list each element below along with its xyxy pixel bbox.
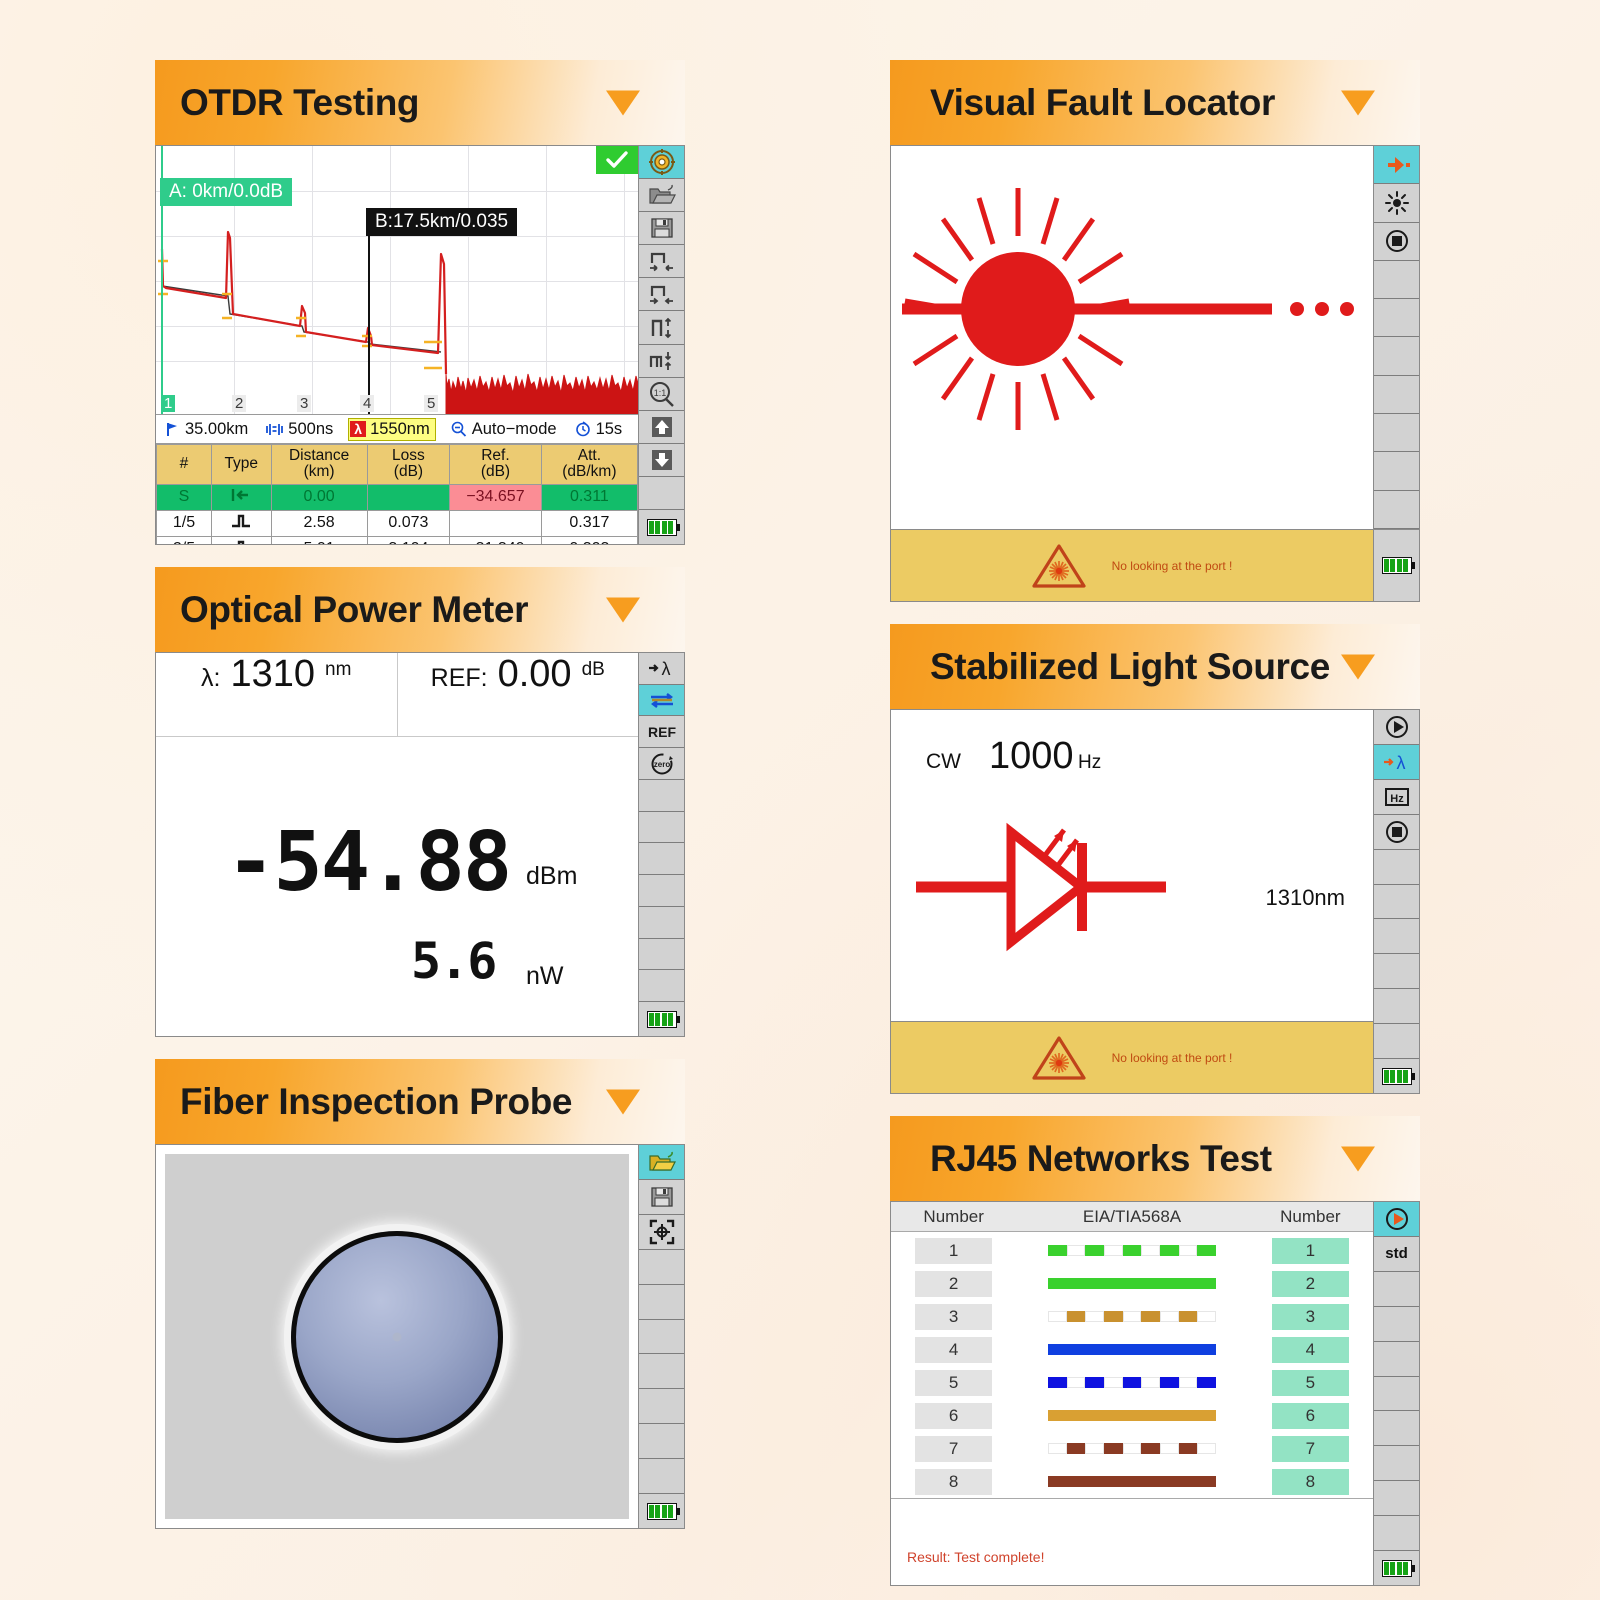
- status-wavelength[interactable]: λ 1550nm: [342, 418, 441, 441]
- toolbar-blank-slot: [639, 1424, 684, 1459]
- opm-settings-row: λ: 1310 nm REF: 0.00 dB: [156, 653, 638, 737]
- x-tick: 1: [161, 395, 175, 412]
- rj45-display[interactable]: Number EIA/TIA568A Number 11223344556677…: [891, 1202, 1373, 1585]
- opm-wavelength-unit: nm: [325, 659, 351, 681]
- rj45-pin-left: 5: [891, 1370, 1016, 1396]
- battery-indicator: [639, 1494, 684, 1528]
- toolbar-laser-beam-icon[interactable]: [1374, 146, 1419, 184]
- toolbar-blank-slot: [639, 843, 684, 875]
- status-pulse[interactable]: 500ns: [257, 420, 342, 439]
- cell-loss: [367, 484, 449, 510]
- rj45-wire-graphic: [1016, 1245, 1247, 1256]
- otdr-trace-graph[interactable]: A: 0km/0.0dB B:17.5km/0.035 1 2 3 4 5: [156, 146, 638, 414]
- sls-settings[interactable]: CW 1000 Hz: [926, 735, 1101, 778]
- battery-indicator: [1374, 1551, 1419, 1585]
- cell-ref: −31.349: [450, 536, 542, 544]
- rj45-wire-graphic: [1016, 1410, 1247, 1421]
- battery-indicator: [639, 1002, 684, 1036]
- otdr-header: OTDR Testing: [155, 60, 685, 145]
- rj45-pin-left: 7: [891, 1436, 1016, 1462]
- toolbar-blank-slot: [1374, 299, 1419, 337]
- sls-toolbar: λHz: [1373, 710, 1419, 1093]
- rj45-header: RJ45 Networks Test: [890, 1116, 1420, 1201]
- cell-type-icon: [211, 536, 271, 544]
- rj45-pin-left: 6: [891, 1403, 1016, 1429]
- rj45-header-right: Number: [1248, 1207, 1373, 1227]
- toolbar-play-icon[interactable]: [1374, 1202, 1419, 1237]
- cell-ref: −34.657: [450, 484, 542, 510]
- fip-title: Fiber Inspection Probe: [180, 1081, 572, 1123]
- rj45-screen: Number EIA/TIA568A Number 11223344556677…: [890, 1201, 1420, 1586]
- otdr-title: OTDR Testing: [180, 82, 419, 124]
- toolbar-blank-slot: [639, 1389, 684, 1424]
- sls-graphic-area: CW 1000 Hz: [891, 710, 1373, 1021]
- rj45-wire-row: 44: [891, 1333, 1373, 1366]
- rj45-pin-right: 8: [1248, 1469, 1373, 1495]
- toolbar-target-icon[interactable]: [639, 146, 684, 179]
- led-diode-icon: [916, 810, 1246, 960]
- panel-fip: Fiber Inspection Probe: [155, 1059, 685, 1529]
- right-column: Visual Fault Locator: [890, 60, 1420, 1586]
- status-time[interactable]: 15s: [566, 420, 632, 439]
- rj45-pin-left: 3: [891, 1304, 1016, 1330]
- vfl-screen: [890, 145, 1420, 530]
- toolbar-blank-slot: [639, 477, 684, 510]
- toolbar-blank-slot: [1374, 452, 1419, 490]
- vfl-warning-text: No looking at the port !: [1112, 559, 1233, 573]
- cell-att: 0.317: [541, 510, 637, 536]
- fiber-core-dot: [393, 1332, 402, 1341]
- cell-att: 0.311: [541, 484, 637, 510]
- rj45-header-left: Number: [891, 1207, 1016, 1227]
- vfl-title: Visual Fault Locator: [930, 82, 1275, 124]
- table-row[interactable]: 1/52.580.0730.317: [157, 510, 638, 536]
- laser-warning-icon: [1032, 1035, 1086, 1081]
- cell-distance: 2.58: [271, 510, 367, 536]
- sls-warning-bar: No looking at the port !: [891, 1021, 1373, 1093]
- cell-type-icon: [211, 510, 271, 536]
- chevron-down-icon[interactable]: [1341, 654, 1375, 679]
- lambda-icon: λ: [350, 421, 366, 437]
- opm-ref-label: REF:: [431, 664, 488, 693]
- opm-wavelength-label: λ:: [201, 664, 220, 693]
- otdr-screen: A: 0km/0.0dB B:17.5km/0.035 1 2 3 4 5: [155, 145, 685, 545]
- toolbar-blank-slot: [639, 970, 684, 1002]
- opm-power-nw: 5.6: [411, 932, 495, 990]
- opm-wavelength-field[interactable]: λ: 1310 nm: [156, 653, 398, 736]
- rj45-wire-graphic: [1016, 1311, 1247, 1322]
- rj45-pin-right: 7: [1248, 1436, 1373, 1462]
- toolbar-blank-slot: [639, 1285, 684, 1320]
- toolbar-blank-slot: [639, 875, 684, 907]
- flag-icon: [165, 422, 180, 437]
- cell-distance: 5.01: [271, 536, 367, 544]
- toolbar-blank-slot: [1374, 1411, 1419, 1446]
- fip-display[interactable]: [156, 1145, 638, 1528]
- opm-power-dbm: -54.88: [226, 815, 510, 910]
- table-header-row: # Type Distance(km) Loss(dB) Ref.(dB) At…: [157, 445, 638, 485]
- panel-rj45: RJ45 Networks Test Number EIA/TIA568A Nu…: [890, 1116, 1420, 1586]
- opm-wavelength-value: 1310: [231, 653, 316, 696]
- svg-text:Hz: Hz: [1390, 793, 1404, 805]
- otdr-status-bar: 35.00km 500ns λ 1550nm: [156, 414, 638, 444]
- rj45-pin-right: 5: [1248, 1370, 1373, 1396]
- toolbar-stop-icon[interactable]: [1374, 223, 1419, 261]
- toolbar-set-wavelength-icon[interactable]: λ: [639, 653, 684, 685]
- chevron-down-icon[interactable]: [606, 597, 640, 622]
- rj45-pin-left: 4: [891, 1337, 1016, 1363]
- mode-label: std: [1385, 1245, 1408, 1262]
- fip-image-area: [156, 1145, 638, 1528]
- svg-text:λ: λ: [661, 659, 670, 679]
- toolbar-blank-slot: [1374, 414, 1419, 452]
- rj45-pin-right: 3: [1248, 1304, 1373, 1330]
- toolbar-blink-mode-icon[interactable]: [1374, 184, 1419, 222]
- toolbar-blank-slot: [1374, 919, 1419, 954]
- rj45-wire-graphic: [1016, 1278, 1247, 1289]
- toolbar-focus-center-icon[interactable]: [639, 1215, 684, 1250]
- rj45-wiremap: Number EIA/TIA568A Number 11223344556677…: [891, 1202, 1373, 1585]
- vfl-graphic-area: [891, 146, 1373, 529]
- sls-screen: CW 1000 Hz: [890, 709, 1420, 1094]
- sls-display[interactable]: CW 1000 Hz: [891, 710, 1373, 1093]
- sls-mode-label: CW: [926, 750, 961, 774]
- toolbar-blank-slot: [1374, 1377, 1419, 1412]
- rj45-result-area: Result: Test complete!: [891, 1498, 1373, 1585]
- rj45-wire-graphic: [1016, 1377, 1247, 1388]
- toolbar-open-folder-icon[interactable]: [639, 179, 684, 212]
- otdr-toolbar: 1:1: [638, 146, 684, 544]
- cell-loss: 0.073: [367, 510, 449, 536]
- status-mode[interactable]: Auto−mode: [442, 420, 566, 439]
- sls-frequency-unit: Hz: [1078, 752, 1101, 773]
- th-ref: Ref.(dB): [450, 445, 542, 485]
- toolbar-open-folder-icon[interactable]: [639, 1145, 684, 1180]
- rj45-pin-right: 6: [1248, 1403, 1373, 1429]
- panel-otdr: OTDR Testing: [155, 60, 685, 545]
- th-loss: Loss(dB): [367, 445, 449, 485]
- rj45-wire-graphic: [1016, 1443, 1247, 1454]
- toolbar-blank-slot: [1374, 1446, 1419, 1481]
- toolbar-blank-slot: [639, 1250, 684, 1285]
- rj45-wire-graphic: [1016, 1344, 1247, 1355]
- svg-text:λ: λ: [1396, 753, 1405, 773]
- rj45-pin-left: 8: [891, 1469, 1016, 1495]
- rj45-result-text: Result: Test complete!: [907, 1549, 1044, 1565]
- opm-power-nw-unit: nW: [526, 962, 564, 991]
- toolbar-blank-slot: [639, 1320, 684, 1355]
- toolbar-pulse-vertical-expand-icon[interactable]: [639, 311, 684, 344]
- toolbar-blank-slot: [639, 1459, 684, 1494]
- cell-att: 0.303: [541, 536, 637, 544]
- toolbar-blank-slot: [1374, 954, 1419, 989]
- toolbar-save-disk-icon[interactable]: [639, 212, 684, 245]
- rj45-toolbar: std: [1373, 1202, 1419, 1585]
- svg-text:REF: REF: [648, 724, 676, 740]
- opm-title: Optical Power Meter: [180, 589, 528, 631]
- toolbar-blank-slot: [1374, 1024, 1419, 1059]
- sls-title: Stabilized Light Source: [930, 646, 1330, 688]
- vfl-warning-bar: No looking at the port !: [890, 530, 1374, 602]
- vfl-header: Visual Fault Locator: [890, 60, 1420, 145]
- opm-header: Optical Power Meter: [155, 567, 685, 652]
- panel-opm: Optical Power Meter λ: 1310 nm REF: 0.00: [155, 567, 685, 1037]
- check-icon: [596, 146, 638, 174]
- toolbar-blank-slot: [1374, 376, 1419, 414]
- th-distance: Distance(km): [271, 445, 367, 485]
- toolbar-blank-slot: [1374, 261, 1419, 299]
- fiber-endface-image[interactable]: [165, 1154, 629, 1519]
- marker-a-label: A: 0km/0.0dB: [160, 178, 292, 206]
- rj45-wire-row: 88: [891, 1465, 1373, 1498]
- toolbar-pulse-expand-icon[interactable]: [639, 245, 684, 278]
- svg-text:1:1: 1:1: [653, 388, 666, 398]
- toolbar-blank-slot: [1374, 1307, 1419, 1342]
- cell-type-icon: [211, 484, 271, 510]
- toolbar-blank-slot: [1374, 491, 1419, 529]
- toolbar-stop-icon[interactable]: [1374, 815, 1419, 850]
- battery-indicator: [1374, 1059, 1419, 1093]
- toolbar-reference-icon[interactable]: REF: [639, 716, 684, 748]
- toolbar-blank-slot: [1374, 1342, 1419, 1377]
- otdr-table-body: S0.00−34.6570.3111/52.580.0730.3172/55.0…: [157, 484, 638, 544]
- opm-toolbar: λREFzero: [638, 653, 684, 1036]
- th-att: Att.(dB/km): [541, 445, 637, 485]
- vfl-display[interactable]: [891, 146, 1373, 529]
- toolbar-play-icon[interactable]: [1374, 710, 1419, 745]
- cell-index: 1/5: [157, 510, 212, 536]
- cell-ref: [450, 510, 542, 536]
- toolbar-blank-slot: [639, 812, 684, 844]
- rj45-wire-row: 11: [891, 1234, 1373, 1267]
- opm-screen: λ: 1310 nm REF: 0.00 dB -54.88 dBm: [155, 652, 685, 1037]
- battery-indicator: [639, 510, 684, 544]
- opm-ref-field[interactable]: REF: 0.00 dB: [398, 653, 639, 736]
- zoom-out-icon: [451, 421, 467, 437]
- x-tick: 4: [360, 395, 374, 412]
- opm-readout: -54.88 dBm 5.6 nW: [156, 737, 638, 1036]
- laser-burst-icon: [891, 146, 1373, 446]
- otdr-x-axis: 1 2 3 4 5: [156, 392, 638, 414]
- toolbar-zoom-one-to-one-icon[interactable]: 1:1: [639, 378, 684, 411]
- rj45-wire-row: 22: [891, 1267, 1373, 1300]
- toolbar-frequency-hz-icon[interactable]: Hz: [1374, 780, 1419, 815]
- toolbar-blank-slot: [1374, 989, 1419, 1024]
- cursor-b[interactable]: [368, 212, 370, 414]
- vfl-warning-row: No looking at the port !: [890, 530, 1420, 602]
- th-type: Type: [211, 445, 271, 485]
- sls-header: Stabilized Light Source: [890, 624, 1420, 709]
- rj45-wire-row: 66: [891, 1399, 1373, 1432]
- rj45-table-header: Number EIA/TIA568A Number: [891, 1202, 1373, 1232]
- rj45-rows: 1122334455667788: [891, 1232, 1373, 1498]
- table-row[interactable]: S0.00−34.6570.311: [157, 484, 638, 510]
- sls-warning-text: No looking at the port !: [1112, 1051, 1233, 1065]
- toolbar-arrow-up-icon[interactable]: [639, 411, 684, 444]
- toolbar-blank-slot: [1374, 337, 1419, 375]
- th-index: #: [157, 445, 212, 485]
- toolbar-set-wavelength-icon[interactable]: λ: [1374, 745, 1419, 780]
- rj45-pin-right: 2: [1248, 1271, 1373, 1297]
- toolbar-blank-slot: [639, 939, 684, 971]
- toolbar-blank-slot: [639, 907, 684, 939]
- fip-screen: [155, 1144, 685, 1529]
- toolbar-blank-slot: [639, 1354, 684, 1389]
- clock-icon: [575, 421, 591, 437]
- sls-wavelength: 1310nm: [1265, 885, 1345, 911]
- vfl-battery: [1374, 530, 1420, 602]
- fip-header: Fiber Inspection Probe: [155, 1059, 685, 1144]
- rj45-wire-row: 55: [891, 1366, 1373, 1399]
- cell-index: 2/5: [157, 536, 212, 544]
- app-root: OTDR Testing: [0, 0, 1600, 1600]
- toolbar-switch-units-icon[interactable]: [639, 685, 684, 717]
- rj45-wire-row: 77: [891, 1432, 1373, 1465]
- toolbar-blank-slot: [1374, 1272, 1419, 1307]
- x-tick: 3: [297, 395, 311, 412]
- cell-index: S: [157, 484, 212, 510]
- opm-power-dbm-unit: dBm: [526, 862, 577, 891]
- rj45-pin-left: 2: [891, 1271, 1016, 1297]
- x-tick: 5: [424, 395, 438, 412]
- rj45-title: RJ45 Networks Test: [930, 1138, 1272, 1180]
- toolbar-arrow-down-icon[interactable]: [639, 444, 684, 477]
- toolbar-pulse-vertical-contract-icon[interactable]: [639, 345, 684, 378]
- chevron-down-icon[interactable]: [1341, 90, 1375, 115]
- opm-display[interactable]: λ: 1310 nm REF: 0.00 dB -54.88 dBm: [156, 653, 638, 1036]
- svg-text:zero: zero: [653, 760, 670, 769]
- rj45-pin-left: 1: [891, 1238, 1016, 1264]
- laser-warning-icon: [1032, 543, 1086, 589]
- rj45-wire-row: 33: [891, 1300, 1373, 1333]
- left-column: OTDR Testing: [155, 60, 685, 1529]
- cell-distance: 0.00: [271, 484, 367, 510]
- toolbar-blank-slot: [1374, 1481, 1419, 1516]
- status-range[interactable]: 35.00km: [156, 420, 257, 439]
- rj45-pin-right: 4: [1248, 1337, 1373, 1363]
- vfl-toolbar: [1373, 146, 1419, 529]
- chevron-down-icon[interactable]: [606, 1089, 640, 1114]
- pulse-width-icon: [266, 422, 283, 437]
- toolbar-blank-slot: [1374, 885, 1419, 920]
- rj45-pin-right: 1: [1248, 1238, 1373, 1264]
- fip-toolbar: [638, 1145, 684, 1528]
- toolbar-blank-slot: [639, 780, 684, 812]
- opm-ref-unit: dB: [582, 659, 605, 681]
- table-row[interactable]: 2/55.013.104−31.3490.303: [157, 536, 638, 544]
- rj45-header-center: EIA/TIA568A: [1016, 1207, 1247, 1227]
- chevron-down-icon[interactable]: [1341, 1146, 1375, 1171]
- toolbar-blank-slot: [1374, 1516, 1419, 1551]
- toolbar-mode-std-label[interactable]: std: [1374, 1237, 1419, 1272]
- otdr-display[interactable]: A: 0km/0.0dB B:17.5km/0.035 1 2 3 4 5: [156, 146, 638, 544]
- toolbar-blank-slot: [1374, 850, 1419, 885]
- chevron-down-icon[interactable]: [606, 90, 640, 115]
- fiber-ferrule-circle: [291, 1231, 503, 1443]
- opm-ref-value: 0.00: [498, 653, 572, 696]
- toolbar-save-disk-icon[interactable]: [639, 1180, 684, 1215]
- sls-frequency: 1000: [989, 735, 1074, 777]
- marker-b-label: B:17.5km/0.035: [366, 208, 517, 236]
- toolbar-pulse-contract-icon[interactable]: [639, 278, 684, 311]
- panel-vfl: Visual Fault Locator: [890, 60, 1420, 602]
- cell-loss: 3.104: [367, 536, 449, 544]
- otdr-event-table[interactable]: # Type Distance(km) Loss(dB) Ref.(dB) At…: [156, 444, 638, 544]
- rj45-wire-graphic: [1016, 1476, 1247, 1487]
- panel-sls: Stabilized Light Source CW 1000 Hz: [890, 624, 1420, 1094]
- x-tick: 2: [232, 395, 246, 412]
- toolbar-zero-icon[interactable]: zero: [639, 748, 684, 780]
